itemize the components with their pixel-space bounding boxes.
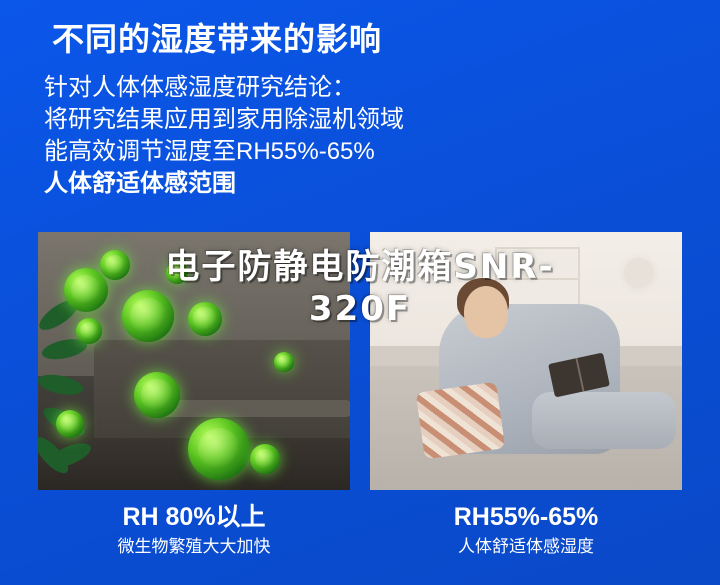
- wall-lamp-icon: [624, 258, 654, 288]
- microbe-icon: [134, 372, 180, 418]
- body-line-1: 针对人体体感湿度研究结论：: [44, 72, 524, 104]
- photo-panel-right: [370, 232, 682, 490]
- poster-content: 不同的湿度带来的影响 针对人体体感湿度研究结论： 将研究结果应用到家用除湿机领域…: [0, 0, 720, 585]
- body-line-3: 能高效调节湿度至RH55%-65%: [44, 136, 524, 168]
- right-room-scene: [370, 232, 682, 490]
- microbe-icon: [188, 418, 250, 480]
- caption-right-title: RH55%-65%: [370, 502, 682, 532]
- photo-panels: [38, 232, 682, 490]
- microbe-icon: [76, 318, 102, 344]
- caption-left-sub: 微生物繁殖大大加快: [38, 534, 350, 560]
- patterned-pillow: [416, 381, 506, 459]
- person-legs: [532, 392, 676, 449]
- microbe-icon: [166, 262, 188, 284]
- person-head: [464, 286, 508, 338]
- microbe-icon: [64, 268, 108, 312]
- caption-left-title: RH 80%以上: [38, 502, 350, 532]
- caption-right-sub: 人体舒适体感湿度: [370, 534, 682, 560]
- left-sofa-cushion: [160, 400, 350, 417]
- microbe-icon: [250, 444, 280, 474]
- microbe-icon: [100, 250, 130, 280]
- body-line-2: 将研究结果应用到家用除湿机领域: [44, 104, 524, 136]
- poster-image: 不同的湿度带来的影响 针对人体体感湿度研究结论： 将研究结果应用到家用除湿机领域…: [0, 0, 720, 585]
- photo-panel-left: [38, 232, 350, 490]
- microbe-icon: [122, 290, 174, 342]
- body-text-block: 针对人体体感湿度研究结论： 将研究结果应用到家用除湿机领域 能高效调节湿度至RH…: [44, 72, 524, 200]
- caption-left: RH 80%以上 微生物繁殖大大加快: [38, 502, 350, 560]
- microbe-icon: [188, 302, 222, 336]
- left-room-scene: [38, 232, 350, 490]
- caption-right: RH55%-65% 人体舒适体感湿度: [370, 502, 682, 560]
- microbe-icon: [274, 352, 294, 372]
- body-line-4: 人体舒适体感范围: [44, 168, 524, 200]
- microbe-icon: [56, 410, 84, 438]
- page-title: 不同的湿度带来的影响: [52, 14, 382, 60]
